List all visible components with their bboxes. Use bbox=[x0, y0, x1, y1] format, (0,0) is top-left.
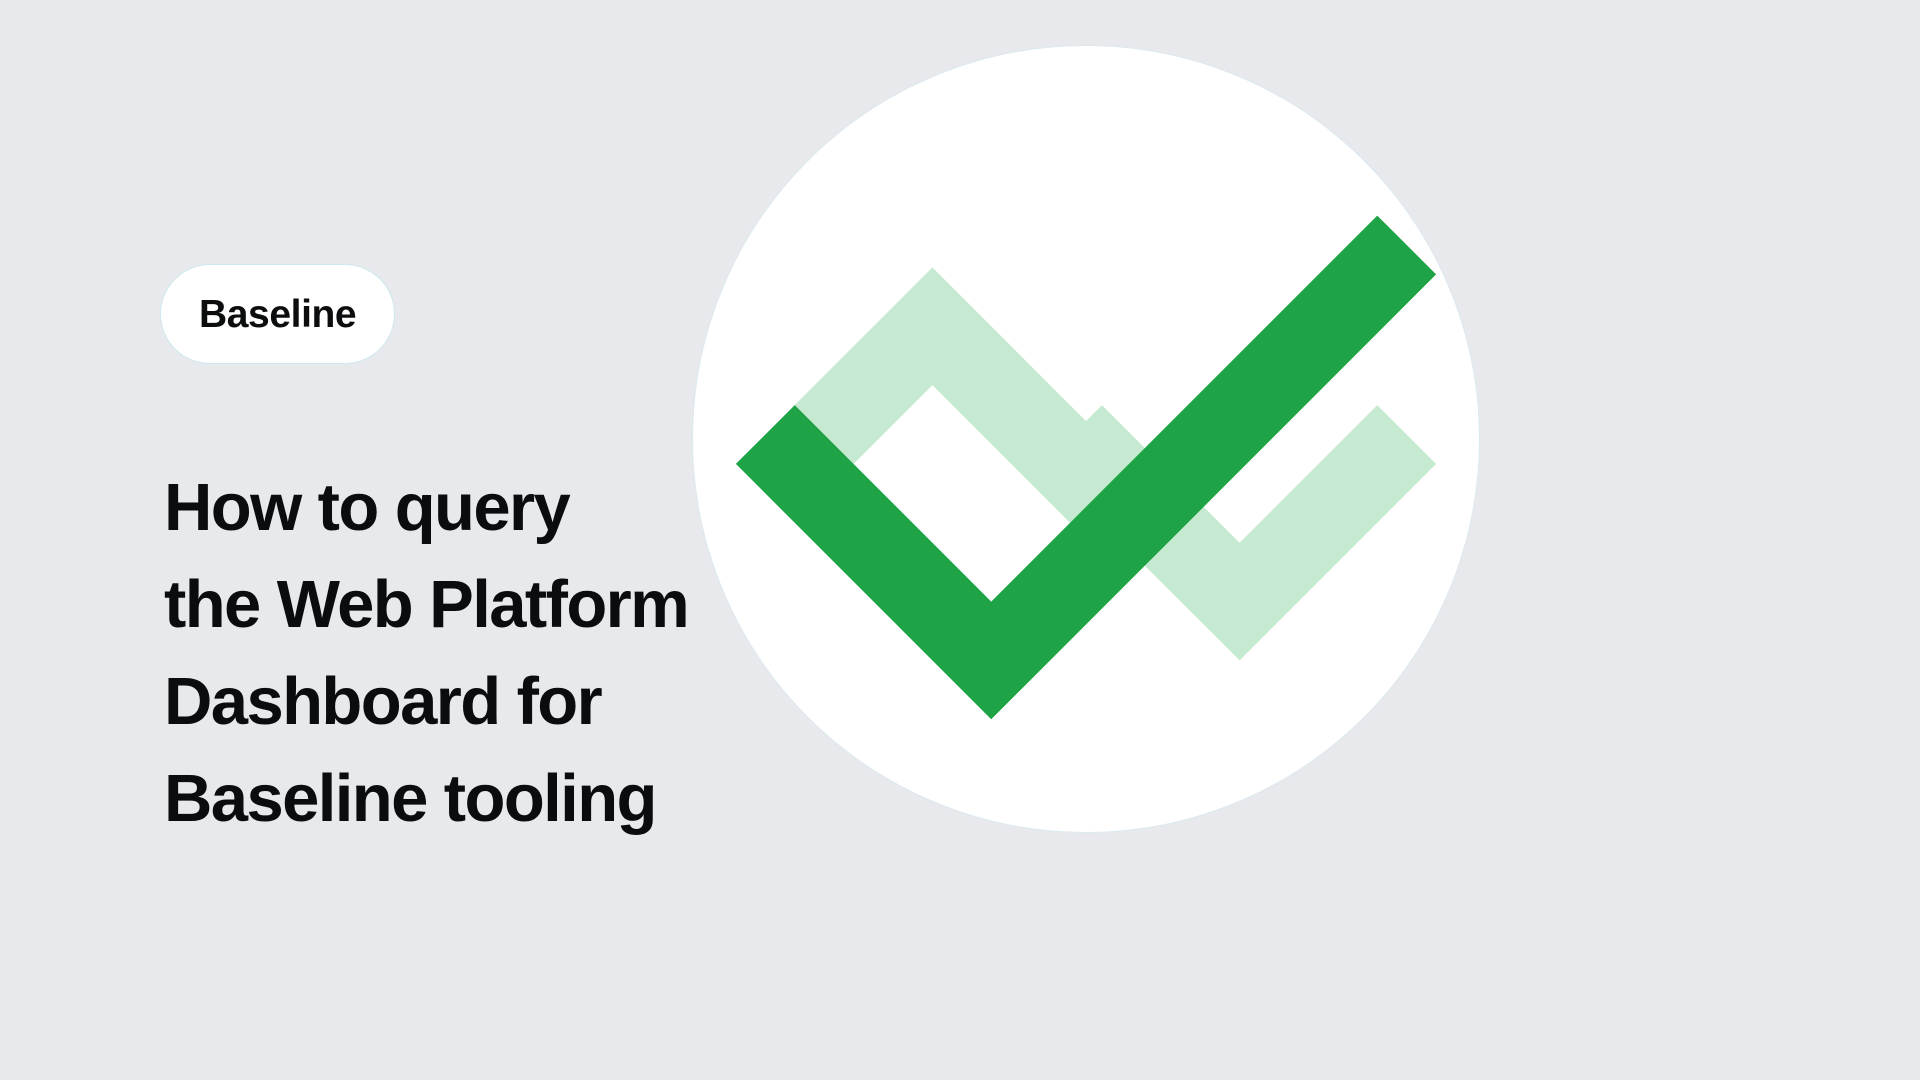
baseline-logo-circle bbox=[692, 45, 1480, 833]
share-card-canvas: Baseline How to query the Web Platform D… bbox=[0, 0, 1920, 1080]
baseline-badge-label: Baseline bbox=[199, 295, 356, 334]
baseline-badge: Baseline bbox=[160, 264, 395, 364]
baseline-logo-icon bbox=[693, 46, 1479, 832]
